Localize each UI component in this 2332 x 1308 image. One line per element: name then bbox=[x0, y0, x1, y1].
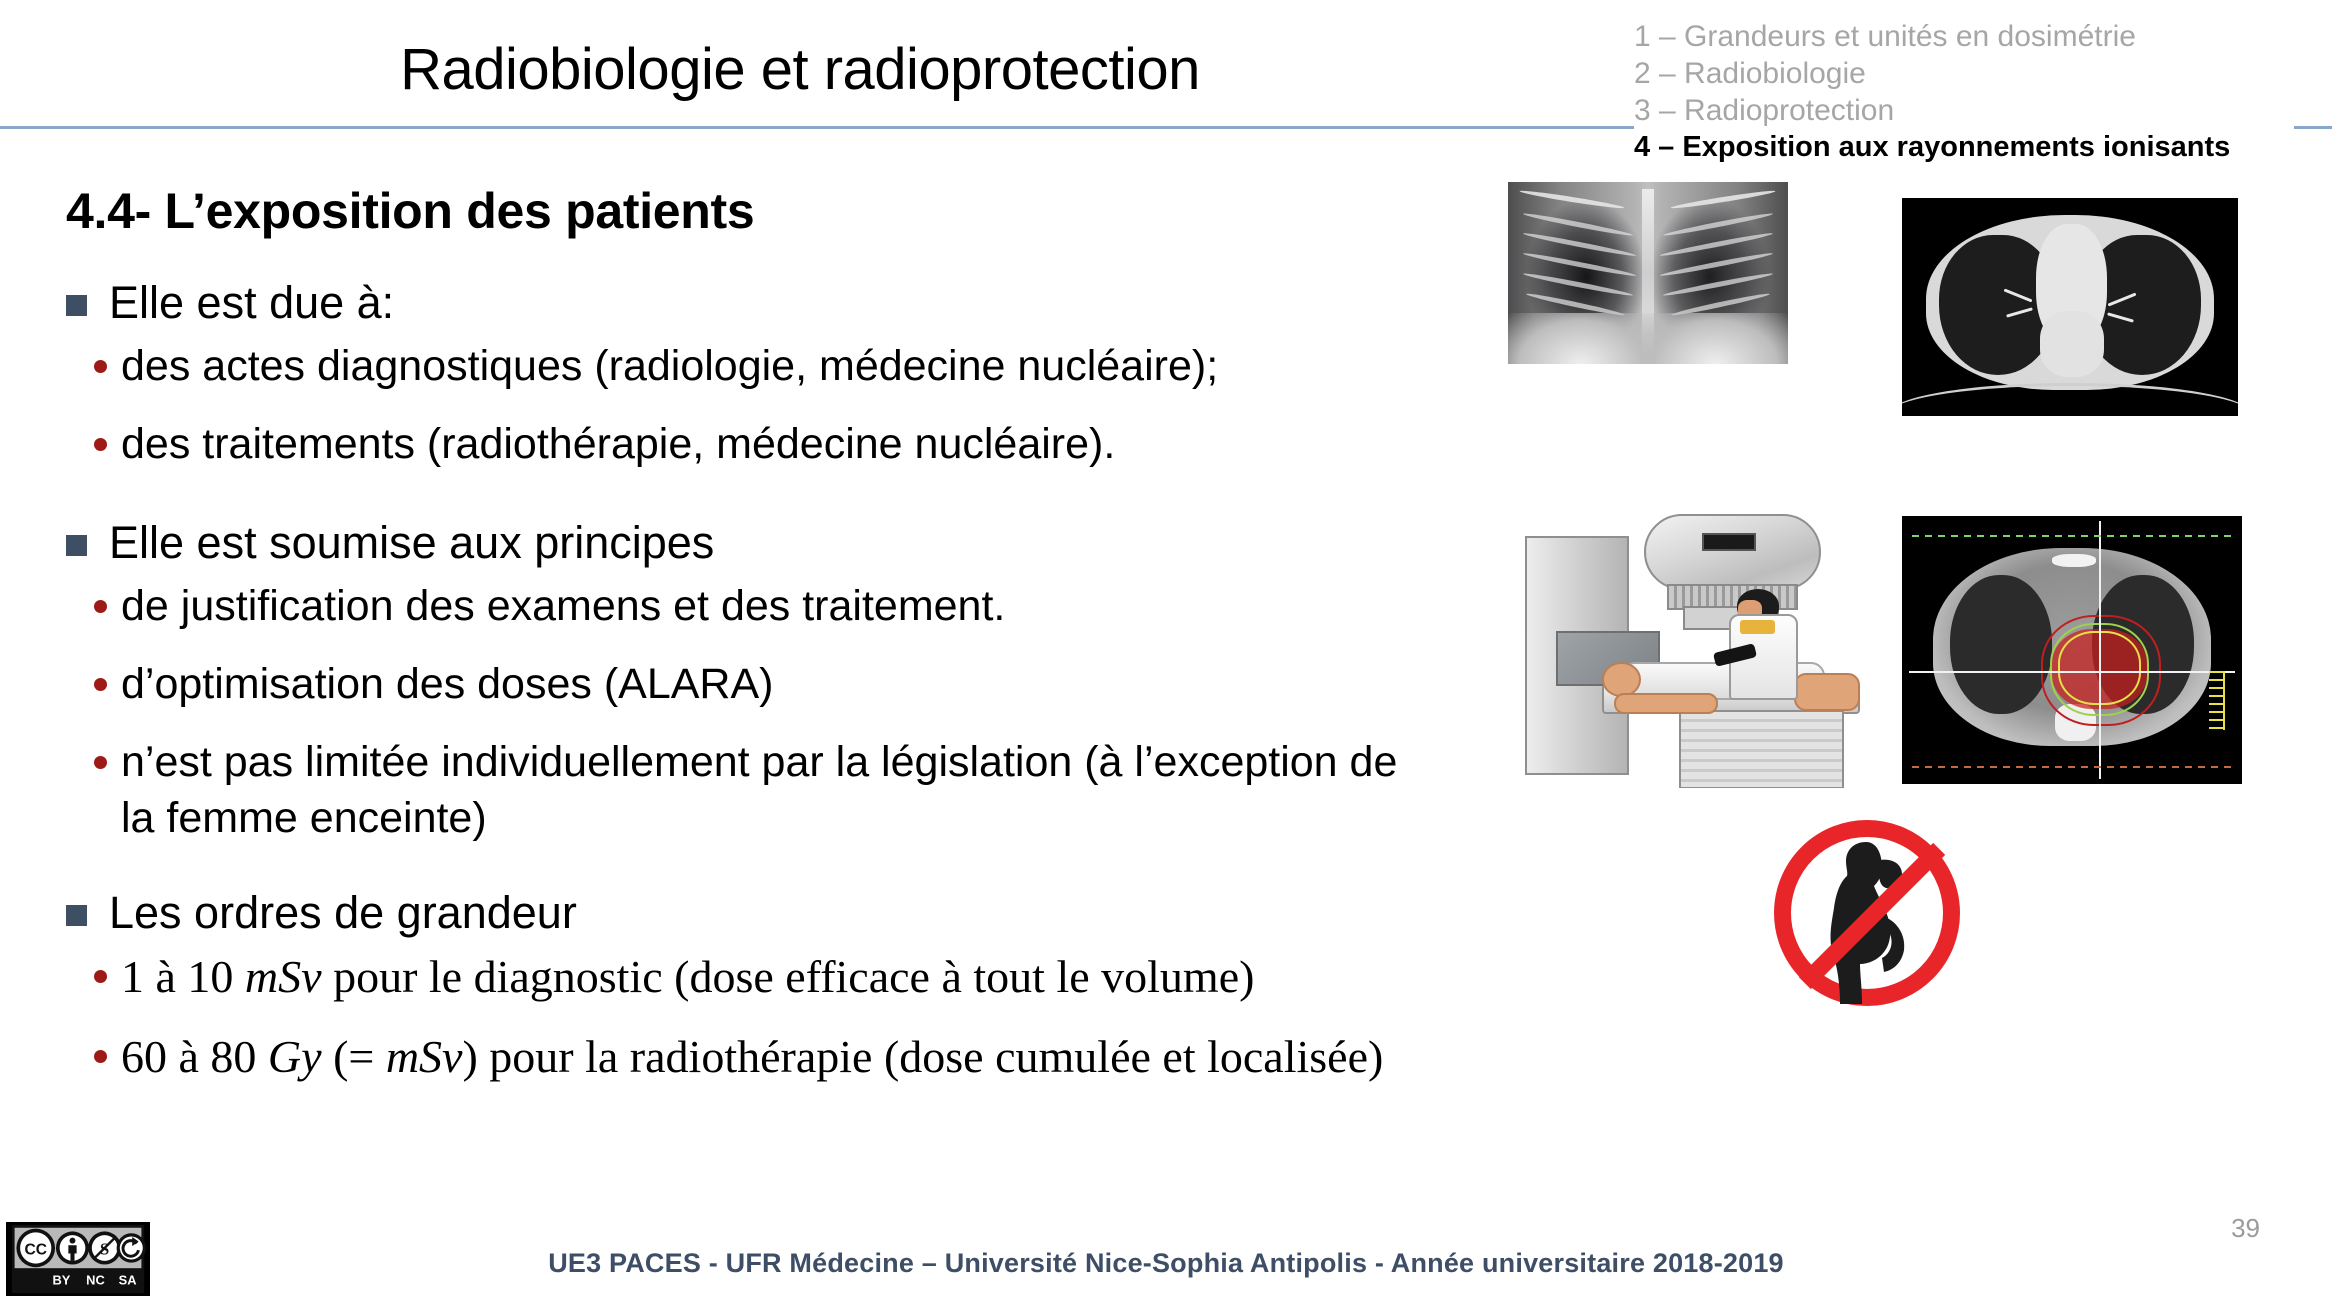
math-pre: 1 à 10 bbox=[121, 951, 245, 1002]
bullet-level1-label: Elle est due à: bbox=[109, 274, 394, 332]
dose-scale-bottom bbox=[1912, 766, 2232, 768]
nav-item-4-active[interactable]: 4 – Exposition aux rayonnements ionisant… bbox=[1634, 129, 2294, 166]
square-bullet-icon bbox=[66, 535, 87, 556]
xray-diaphragm-right bbox=[1642, 313, 1788, 364]
bullet-level1-elle-est-due-a: Elle est due à: bbox=[66, 274, 1496, 332]
crosshair-horizontal bbox=[1909, 671, 2235, 673]
crosshair-vertical bbox=[2099, 521, 2101, 778]
linac-radiotherapy-image bbox=[1510, 508, 1894, 788]
section-heading: 4.4- L’exposition des patients bbox=[66, 182, 1496, 240]
math-post: pour le diagnostic (dose efficace à tout… bbox=[322, 951, 1255, 1002]
dot-bullet-icon bbox=[94, 756, 107, 769]
ct-heart bbox=[2040, 311, 2104, 376]
section-nav-list: 1 – Grandeurs et unités en dosimétrie 2 … bbox=[1634, 18, 2294, 166]
dot-bullet-icon bbox=[94, 438, 107, 451]
math-mid: (= bbox=[322, 1031, 386, 1082]
bullet-level2-label: de justification des examens et des trai… bbox=[121, 578, 1005, 634]
technician-collar bbox=[1740, 620, 1775, 634]
ct-table-arc bbox=[1902, 383, 2238, 414]
bullet-level2-justification: de justification des examens et des trai… bbox=[66, 578, 1496, 634]
dose-lung-left bbox=[1950, 575, 2052, 714]
dot-bullet-icon bbox=[94, 970, 107, 983]
bullet-level2-optimisation-alara: d’optimisation des doses (ALARA) bbox=[66, 656, 1496, 712]
math-line-diagnostic: 1 à 10 mSv pour le diagnostic (dose effi… bbox=[121, 948, 1254, 1006]
slide-root: Radiobiologie et radioprotection 1 – Gra… bbox=[0, 0, 2332, 1308]
patient-arm bbox=[1614, 693, 1718, 714]
dot-bullet-icon bbox=[94, 678, 107, 691]
square-bullet-icon bbox=[66, 905, 87, 926]
dose-scale-top bbox=[1912, 535, 2232, 537]
bullet-level2-traitements: des traitements (radiothérapie, médecine… bbox=[66, 416, 1496, 472]
bullet-level2-label: n’est pas limitée individuellement par l… bbox=[121, 734, 1411, 846]
math-line-radiotherapie: 60 à 80 Gy (= mSv) pour la radiothérapie… bbox=[121, 1028, 1383, 1086]
linac-gantry-head bbox=[1644, 514, 1821, 591]
dot-bullet-icon bbox=[94, 1050, 107, 1063]
bullet-level2-label: d’optimisation des doses (ALARA) bbox=[121, 656, 773, 712]
math-unit-gy: Gy bbox=[268, 1031, 322, 1082]
bullet-level1-label: Les ordres de grandeur bbox=[109, 884, 577, 942]
math-post: ) pour la radiothérapie (dose cumulée et… bbox=[462, 1031, 1383, 1082]
patient-head bbox=[1602, 662, 1641, 697]
bullet-level2-actes-diagnostiques: des actes diagnostiques (radiologie, méd… bbox=[66, 338, 1496, 394]
page-number: 39 bbox=[2231, 1213, 2260, 1244]
square-bullet-icon bbox=[66, 295, 87, 316]
bullet-level1-elle-est-soumise: Elle est soumise aux principes bbox=[66, 514, 1496, 572]
page-title: Radiobiologie et radioprotection bbox=[0, 36, 1600, 103]
spacer bbox=[66, 720, 1496, 734]
linac-couch-base bbox=[1679, 710, 1844, 788]
spacer bbox=[66, 480, 1496, 514]
nav-item-1[interactable]: 1 – Grandeurs et unités en dosimétrie bbox=[1634, 18, 2294, 55]
dose-plan-ct-image bbox=[1902, 516, 2242, 784]
no-pregnant-women-sign bbox=[1768, 816, 1976, 1016]
xray-diaphragm-left bbox=[1508, 313, 1654, 364]
patient-legs bbox=[1794, 673, 1859, 711]
nav-item-2[interactable]: 2 – Radiobiologie bbox=[1634, 55, 2294, 92]
dose-ruler bbox=[2209, 671, 2225, 730]
bullet-level2-limitation-legislation: n’est pas limitée individuellement par l… bbox=[66, 734, 1496, 846]
chest-xray-image bbox=[1508, 182, 1788, 364]
nav-item-3[interactable]: 3 – Radioprotection bbox=[1634, 92, 2294, 129]
spacer bbox=[66, 854, 1496, 884]
bullet-level2-label: des traitements (radiothérapie, médecine… bbox=[121, 416, 1115, 472]
bullet-level2-dose-diagnostic: 1 à 10 mSv pour le diagnostic (dose effi… bbox=[66, 948, 1496, 1006]
bullet-level2-dose-radiotherapie: 60 à 80 Gy (= mSv) pour la radiothérapie… bbox=[66, 1028, 1496, 1086]
slide-content: 4.4- L’exposition des patients Elle est … bbox=[66, 182, 1496, 1094]
dose-sternum bbox=[2052, 554, 2096, 567]
bullet-level2-label: des actes diagnostiques (radiologie, méd… bbox=[121, 338, 1218, 394]
footer-course-info: UE3 PACES - UFR Médecine – Université Ni… bbox=[0, 1248, 2332, 1279]
bullet-level1-label: Elle est soumise aux principes bbox=[109, 514, 714, 572]
dot-bullet-icon bbox=[94, 600, 107, 613]
dot-bullet-icon bbox=[94, 360, 107, 373]
math-unit-msv: mSv bbox=[245, 951, 322, 1002]
spacer bbox=[66, 1014, 1496, 1028]
math-pre: 60 à 80 bbox=[121, 1031, 268, 1082]
spacer bbox=[66, 402, 1496, 416]
chest-ct-image bbox=[1902, 198, 2238, 416]
image-panel bbox=[1500, 176, 2300, 1046]
spacer bbox=[66, 642, 1496, 656]
linac-head-window bbox=[1702, 533, 1756, 551]
math-unit-msv: mSv bbox=[386, 1031, 463, 1082]
bullet-level1-ordres-de-grandeur: Les ordres de grandeur bbox=[66, 884, 1496, 942]
